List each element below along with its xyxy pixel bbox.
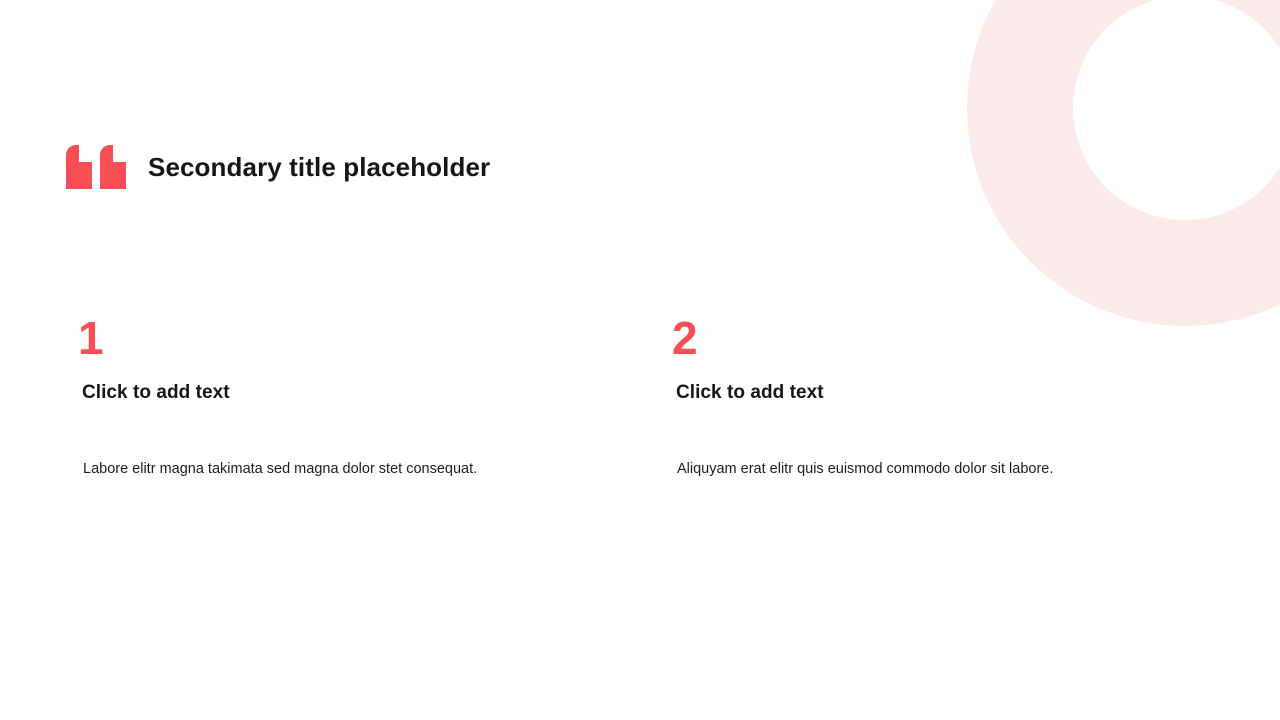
- column-body-text[interactable]: Aliquyam erat elitr quis euismod commodo…: [677, 459, 1197, 479]
- column-number: 1: [78, 312, 672, 364]
- page-title: Secondary title placeholder: [148, 152, 490, 182]
- column-body-text[interactable]: Labore elitr magna takimata sed magna do…: [83, 459, 603, 479]
- content-column-2: 2 Click to add text Aliquyam erat elitr …: [672, 312, 1266, 479]
- quote-header: Secondary title placeholder: [66, 140, 490, 194]
- content-columns: 1 Click to add text Labore elitr magna t…: [78, 312, 1202, 479]
- column-number: 2: [672, 312, 1266, 364]
- ring-decoration-icon: [967, 0, 1280, 326]
- column-heading[interactable]: Click to add text: [82, 381, 672, 404]
- slide-canvas: Secondary title placeholder 1 Click to a…: [0, 0, 1280, 720]
- column-heading[interactable]: Click to add text: [676, 381, 1266, 404]
- double-quote-icon: [66, 145, 126, 189]
- content-column-1: 1 Click to add text Labore elitr magna t…: [78, 312, 672, 479]
